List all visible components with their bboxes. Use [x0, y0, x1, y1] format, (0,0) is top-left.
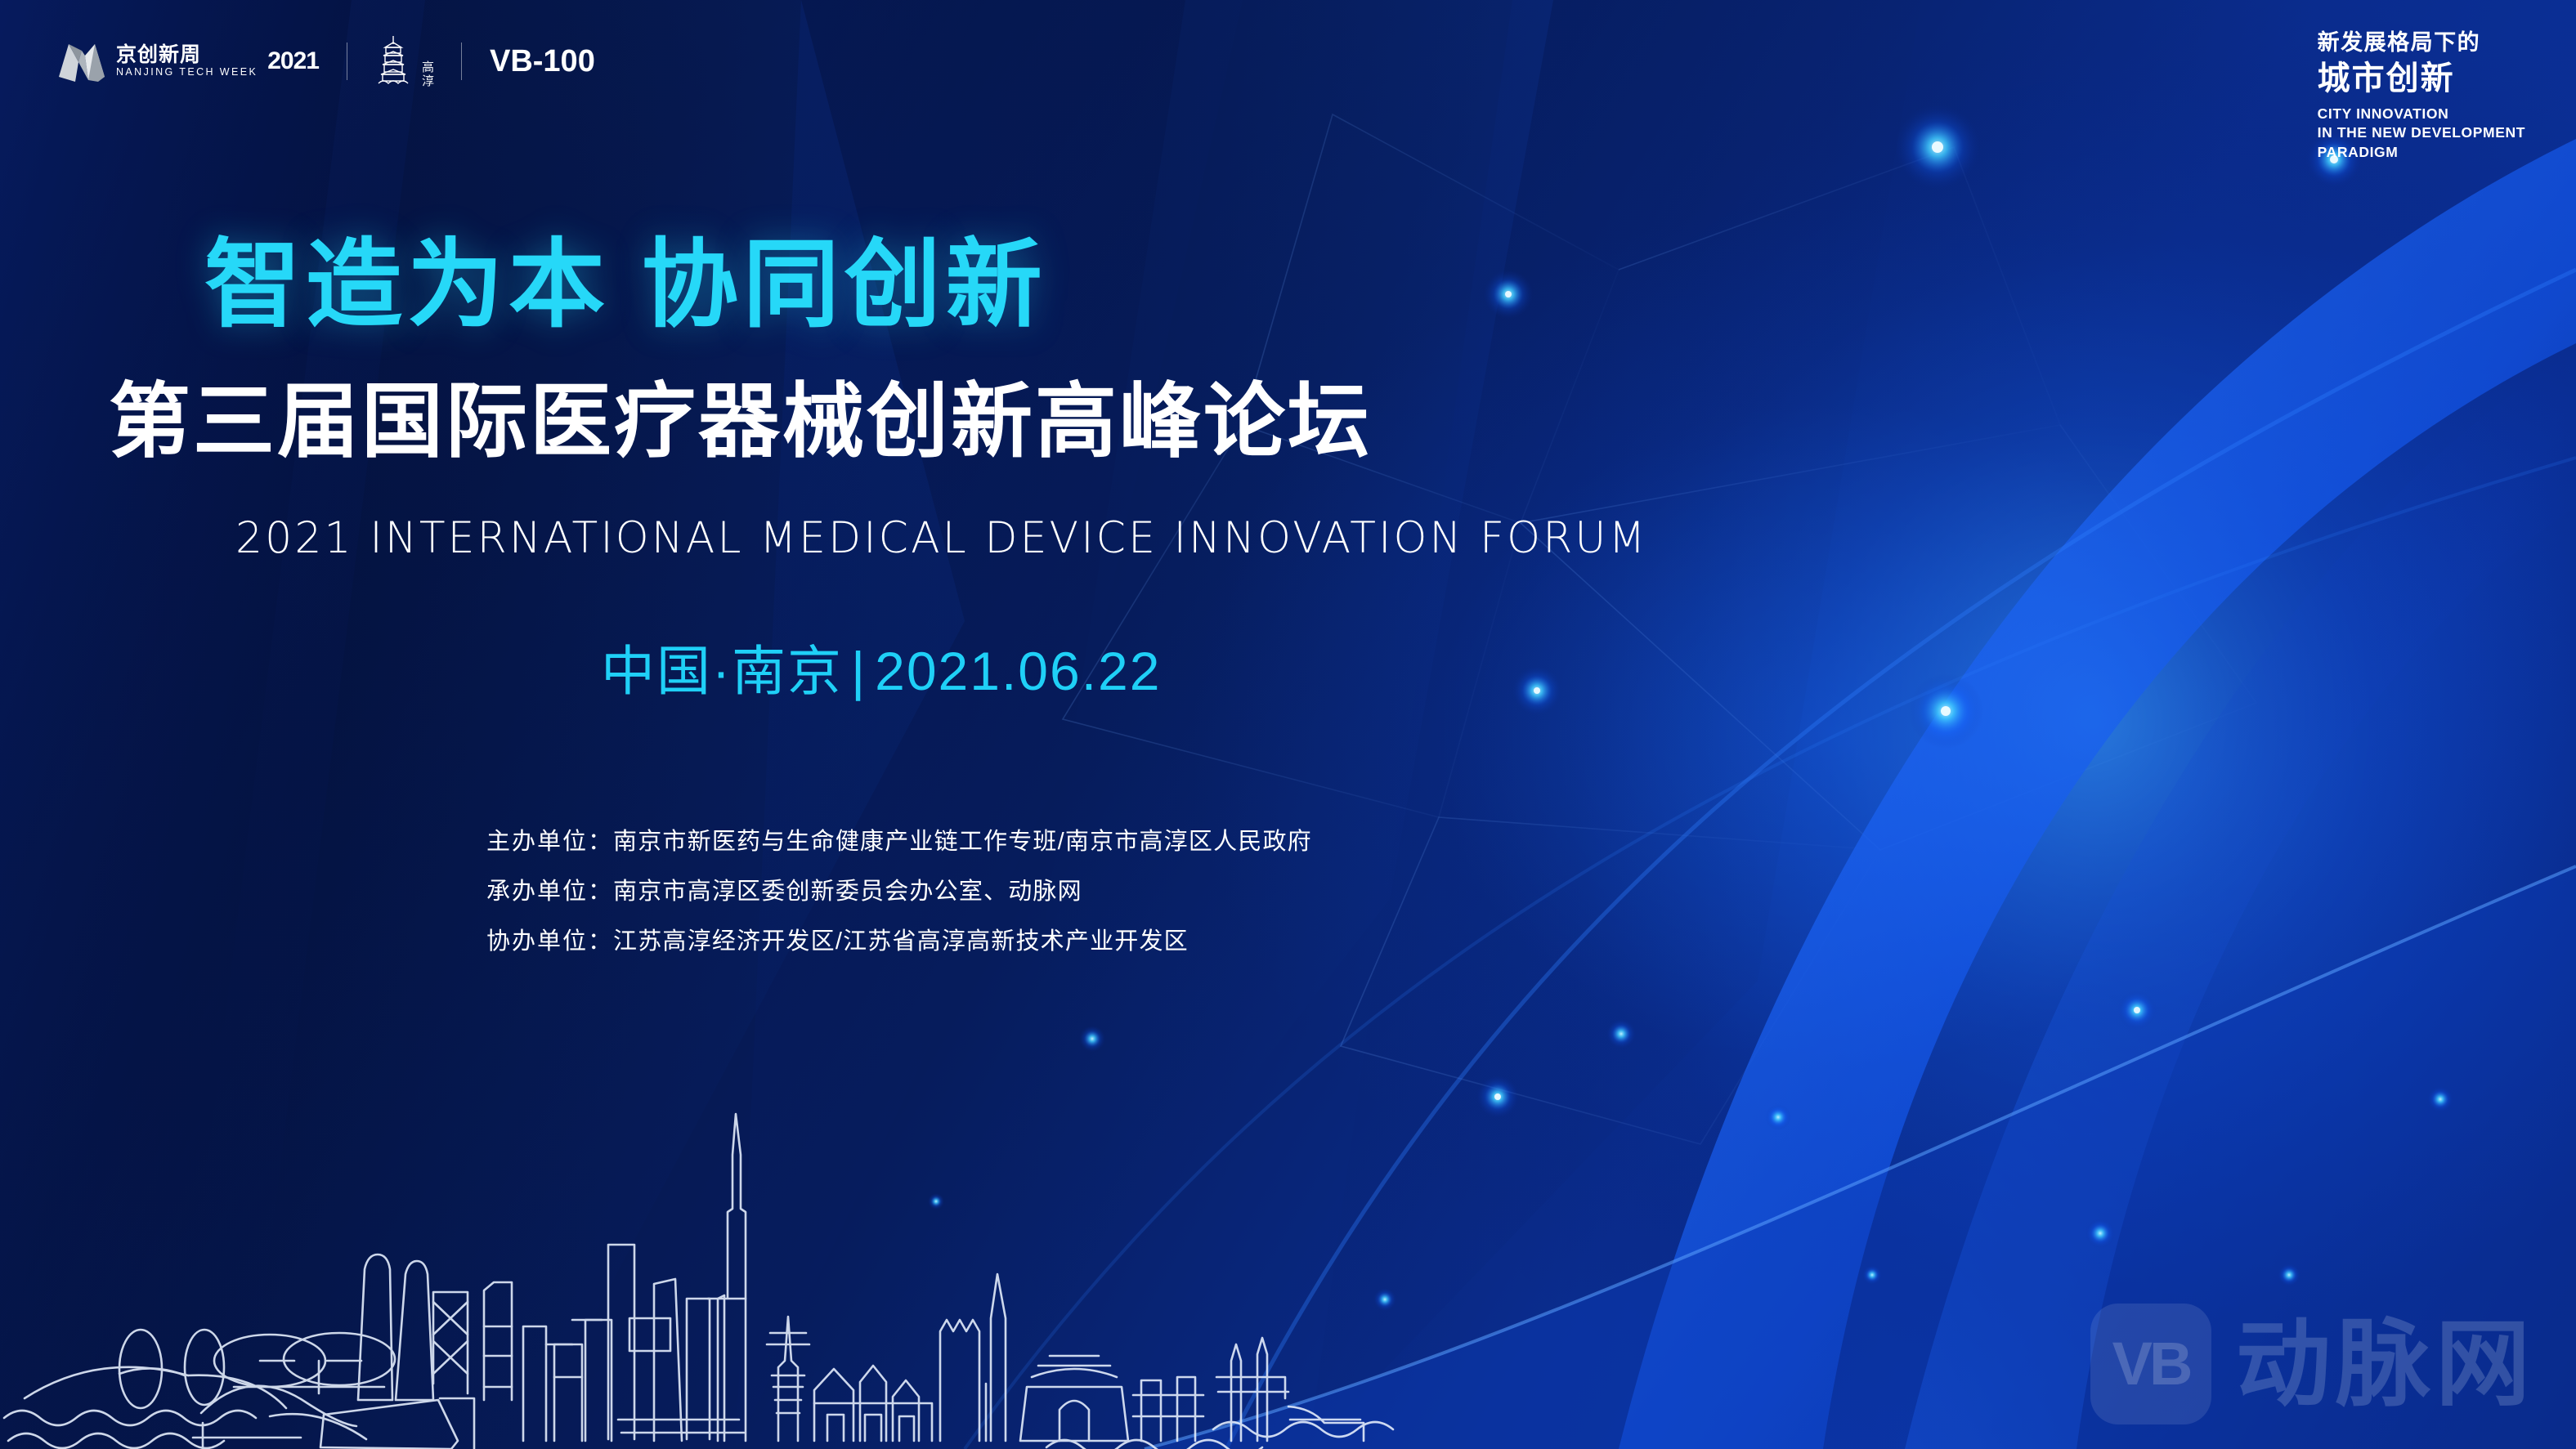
tagline-en-line3: PARADIGM	[2318, 143, 2525, 163]
organizer-value: 南京市高淳区委创新委员会办公室、动脉网	[613, 879, 1082, 905]
nanjing-tech-week-en: NANJING TECH WEEK	[116, 66, 258, 78]
nanjing-tech-week-mark-icon	[57, 39, 106, 83]
organizer-list: 主办单位：南京市新医药与生命健康产业链工作专班/南京市高淳区人民政府 承办单位：…	[486, 817, 1312, 967]
organizer-label: 主办单位：	[486, 829, 613, 855]
nanjing-tech-week-cn: 京创新周	[116, 44, 258, 65]
event-date: 2021.06.22	[875, 641, 1161, 701]
pagoda-icon	[375, 34, 418, 88]
nanjing-skyline-icon	[0, 1057, 1962, 1449]
watermark-text: 动脉网	[2236, 1317, 2535, 1411]
organizer-label: 协办单位：	[486, 928, 613, 955]
gaochun-label: 高淳	[421, 60, 433, 88]
event-headline: 智造为本 协同创新	[204, 233, 1047, 339]
vb100-logo: VB-100	[490, 46, 595, 77]
organizer-row: 承办单位：南京市高淳区委创新委员会办公室、动脉网	[486, 867, 1312, 917]
tagline-cn-line1: 新发展格局下的	[2318, 29, 2525, 57]
vb-logo-icon: VB	[2090, 1304, 2211, 1424]
organizer-row: 协办单位：江苏高淳经济开发区/江苏省高淳高新技术产业开发区	[486, 917, 1312, 967]
vb-logo-label: VB	[2112, 1334, 2190, 1394]
vbdata-watermark: VB 动脉网	[2090, 1304, 2535, 1424]
logo-divider	[347, 42, 347, 80]
gaochun-logo: 高淳	[375, 34, 433, 88]
event-location: 中国·南京	[601, 641, 843, 701]
datetime-separator: |	[843, 641, 875, 701]
nanjing-tech-week-year: 2021	[267, 51, 319, 72]
tagline-en-line1: CITY INNOVATION	[2318, 105, 2525, 124]
nanjing-tech-week-logo: 京创新周 NANJING TECH WEEK 2021	[57, 39, 319, 83]
tagline-block: 新发展格局下的 城市创新 CITY INNOVATION IN THE NEW …	[2318, 29, 2525, 163]
event-datetime: 中国·南京|2021.06.22	[601, 628, 1161, 706]
organizer-value: 江苏高淳经济开发区/江苏省高淳高新技术产业开发区	[613, 928, 1189, 955]
conference-banner: 京创新周 NANJING TECH WEEK 2021	[0, 0, 2576, 1449]
organizer-value: 南京市新医药与生命健康产业链工作专班/南京市高淳区人民政府	[613, 829, 1312, 855]
logo-divider-2	[461, 42, 462, 80]
event-title-cn: 第三届国际医疗器械创新高峰论坛	[109, 376, 1372, 467]
organizer-label: 承办单位：	[486, 879, 613, 905]
logo-bar: 京创新周 NANJING TECH WEEK 2021	[57, 33, 595, 90]
tagline-en-line2: IN THE NEW DEVELOPMENT	[2318, 123, 2525, 143]
organizer-row: 主办单位：南京市新医药与生命健康产业链工作专班/南京市高淳区人民政府	[486, 817, 1312, 867]
event-title-en: 2021 INTERNATIONAL MEDICAL DEVICE INNOVA…	[235, 515, 1648, 562]
tagline-cn-line2: 城市创新	[2318, 59, 2525, 98]
